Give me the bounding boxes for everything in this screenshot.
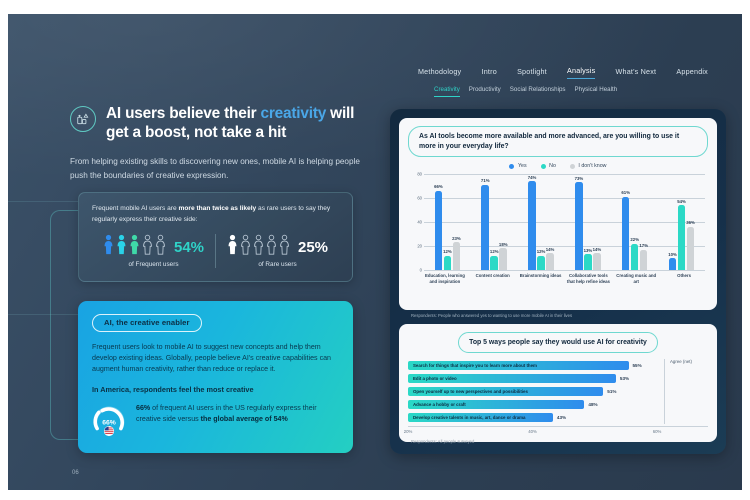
legend-item-idk: I don't know	[570, 163, 607, 169]
chart1-plot-area: 806040200 66%12%23%71%12%18%74%12%14%73%…	[411, 174, 705, 270]
chart2-x-tick: 20%	[404, 429, 413, 434]
teal-stat-a: 66%	[136, 404, 150, 412]
person-icon	[103, 234, 114, 255]
chart2-bar-label: Advance a hobby or craft	[413, 402, 466, 407]
chart2-bar: Search for things that inspire you to le…	[408, 361, 629, 371]
chart1-bar-value: 12%	[443, 249, 452, 254]
left-content-column: AI users believe their creativity will g…	[70, 104, 370, 182]
chart1-bar-value: 61%	[621, 190, 630, 195]
chart1-bar-value: 14%	[593, 247, 602, 252]
person-icon-empty	[266, 234, 277, 255]
teal-card-subhead: In America, respondents feel the most cr…	[92, 385, 339, 394]
chart1-bar-no: 54%	[678, 205, 686, 270]
teal-stat-c: the global average of 54%	[201, 415, 288, 423]
decor-outline	[50, 210, 80, 440]
chart1-bar-yes: 66%	[435, 191, 443, 270]
chart1-bar-value: 13%	[584, 248, 593, 253]
chart1-x-labels: Education, learning and inspirationConte…	[421, 273, 708, 285]
teal-card-body: Frequent users look to mobile AI to sugg…	[92, 342, 339, 376]
page-title: AI users believe their creativity will g…	[106, 104, 370, 142]
chart1-bar-value: 22%	[630, 237, 639, 242]
legend-label-yes: Yes	[518, 163, 527, 169]
chart2-bar-value: 53%	[620, 376, 629, 381]
chart1-bar-value: 12%	[490, 249, 499, 254]
chart1-bar-value: 18%	[499, 242, 508, 247]
title-highlight: creativity	[261, 105, 327, 122]
person-icon	[129, 234, 140, 255]
chart1-bar-no: 12%	[537, 256, 545, 270]
chart2-title: Top 5 ways people say they would use AI …	[458, 332, 658, 353]
subnav-item-social-relationships[interactable]: Social Relationships	[510, 86, 566, 97]
charts-panel: As AI tools become more available and mo…	[390, 109, 726, 454]
chart1-bar-yes: 73%	[575, 182, 583, 270]
chart1-plot: 66%12%23%71%12%18%74%12%14%73%13%14%61%2…	[424, 174, 705, 270]
chart2-bar-value: 43%	[557, 415, 566, 420]
chart2-bar-label: Search for things that inspire you to le…	[413, 363, 537, 368]
chart2-bar-label: Open yourself up to new perspectives and…	[413, 389, 528, 394]
chart1-title-wrap: As AI tools become more available and mo…	[408, 126, 708, 157]
creative-enabler-card: AI, the creative enabler Frequent users …	[78, 301, 353, 453]
teal-card-stat: 66% 66% of fre	[92, 403, 339, 442]
nav-item-whats-next[interactable]: What's Next	[616, 67, 657, 79]
gauge-66: 66%	[92, 403, 126, 442]
stat-card: Frequent mobile AI users are more than t…	[78, 192, 353, 282]
agree-net-label: Agree (net)	[670, 359, 692, 364]
chart1-x-label: Creating music and art	[612, 273, 660, 285]
chart2-row: Search for things that inspire you to le…	[408, 359, 660, 372]
legend-swatch-no	[541, 164, 546, 169]
legend-label-idk: I don't know	[578, 163, 606, 169]
chart1-group: 66%12%23%	[424, 174, 471, 270]
chart1-y-tick: 40	[417, 220, 422, 225]
sub-navigation: Creativity Productivity Social Relations…	[418, 86, 708, 97]
chart1-bar-value: 73%	[575, 176, 584, 181]
chart1-bar-yes: 61%	[622, 197, 630, 270]
person-icon-empty	[253, 234, 264, 255]
person-icon-empty	[240, 234, 251, 255]
chart2-x-axis: 20%40%60%	[408, 426, 708, 435]
chart2-footnote: Respondents: All people surveyed	[408, 439, 708, 444]
chart1-bar-i-don-t-know: 17%	[640, 250, 648, 270]
top-navigation: Methodology Intro Spotlight Analysis Wha…	[418, 66, 708, 97]
chart1-bar-value: 54%	[677, 199, 686, 204]
chart1-bar-no: 22%	[631, 244, 639, 270]
chart1-bar-groups: 66%12%23%71%12%18%74%12%14%73%13%14%61%2…	[424, 174, 705, 270]
chart1-bar-yes: 71%	[481, 185, 489, 270]
chart1-y-tick: 20	[417, 244, 422, 249]
decor-guide-line	[8, 201, 78, 202]
chart1-y-tick: 0	[420, 268, 422, 273]
chart1-bar-i-don-t-know: 36%	[687, 227, 695, 270]
nav-item-appendix[interactable]: Appendix	[676, 67, 708, 79]
chart2-x-tick: 60%	[653, 429, 662, 434]
teal-card-stat-text: 66% of frequent AI users in the US regul…	[136, 403, 339, 426]
chart1-group: 73%13%14%	[564, 174, 611, 270]
chart1-group: 10%54%36%	[658, 174, 705, 270]
title-part-1: AI users believe their	[106, 105, 261, 122]
chart1-bar-i-don-t-know: 23%	[453, 242, 461, 270]
chart1-legend: Yes No I don't know	[408, 163, 708, 169]
chart1-bar-value: 36%	[686, 220, 695, 225]
chart1-bar-value: 14%	[546, 247, 555, 252]
frequent-percentage: 54%	[174, 240, 204, 255]
teal-card-pill: AI, the creative enabler	[92, 314, 202, 332]
chart1-bar-yes: 74%	[528, 181, 536, 270]
rare-percentage: 25%	[298, 240, 328, 255]
chart1-bar-i-don-t-know: 14%	[546, 253, 554, 270]
nav-row: Methodology Intro Spotlight Analysis Wha…	[418, 66, 708, 79]
legend-item-yes: Yes	[509, 163, 526, 169]
nav-item-intro[interactable]: Intro	[482, 67, 497, 79]
chart1-x-label: Content creation	[469, 273, 517, 285]
chart1-bar-value: 74%	[528, 175, 537, 180]
chart1-x-label: Collaborative tools that help refine ide…	[564, 273, 612, 285]
headline-row: AI users believe their creativity will g…	[70, 104, 370, 142]
chart2-side-label: Agree (net)	[664, 359, 708, 424]
slide-canvas: Methodology Intro Spotlight Analysis Wha…	[8, 14, 742, 490]
chart2-bar-label: Develop creative talents in music, art, …	[413, 415, 526, 420]
lede-paragraph: From helping existing skills to discover…	[70, 155, 360, 182]
page-number: 06	[72, 470, 79, 476]
chart2-row: Edit a photo or video53%	[408, 372, 660, 385]
stat-lead-a: Frequent mobile AI users are	[92, 205, 179, 212]
chart1-group: 71%12%18%	[471, 174, 518, 270]
nav-item-spotlight[interactable]: Spotlight	[517, 67, 547, 79]
chart2-rows: Search for things that inspire you to le…	[408, 359, 664, 424]
stat-rare-users: 25% of Rare users	[215, 234, 339, 268]
chart1-bar-yes: 10%	[669, 258, 677, 270]
legend-label-no: No	[549, 163, 556, 169]
subnav-item-physical-health[interactable]: Physical Health	[575, 86, 618, 97]
horizontal-bar-chart-card: Top 5 ways people say they would use AI …	[399, 324, 717, 442]
chart2-bar: Develop creative talents in music, art, …	[408, 413, 553, 423]
chart1-group: 61%22%17%	[611, 174, 658, 270]
creativity-icon	[70, 106, 96, 132]
gauge-value: 66%	[102, 419, 116, 426]
person-icon-empty	[155, 234, 166, 255]
chart1-bar-value: 71%	[481, 178, 490, 183]
chart1-group: 74%12%14%	[518, 174, 565, 270]
chart1-bar-no: 12%	[490, 256, 498, 270]
stat-frequent-users: 54% of Frequent users	[92, 234, 215, 268]
chart1-y-tick: 60	[417, 196, 422, 201]
legend-item-no: No	[541, 163, 556, 169]
chart2-bar: Edit a photo or video	[408, 374, 616, 384]
chart1-title: As AI tools become more available and mo…	[408, 126, 708, 157]
vertical-bar-chart-card: As AI tools become more available and mo…	[399, 118, 717, 310]
frequent-pictogram: 54%	[103, 234, 204, 255]
chart2-bar-label: Edit a photo or video	[413, 376, 457, 381]
chart1-bar-value: 10%	[668, 252, 677, 257]
person-icon	[227, 234, 238, 255]
chart1-bar-value: 23%	[452, 236, 461, 241]
stat-lead-emphasis: more than twice as likely	[179, 205, 257, 212]
person-icon	[116, 234, 127, 255]
chart2-body: Search for things that inspire you to le…	[408, 359, 708, 424]
chart2-bar-value: 51%	[607, 389, 616, 394]
us-flag-icon	[104, 426, 114, 436]
chart1-bar-i-don-t-know: 14%	[593, 253, 601, 270]
nav-item-analysis[interactable]: Analysis	[567, 66, 595, 79]
stat-card-lead: Frequent mobile AI users are more than t…	[92, 204, 339, 225]
subnav-item-productivity[interactable]: Productivity	[469, 86, 501, 97]
chart1-bar-value: 12%	[537, 249, 546, 254]
chart1-x-label: Others	[660, 273, 708, 285]
rare-pictogram: 25%	[227, 234, 328, 255]
chart1-x-label: Education, learning and inspiration	[421, 273, 469, 285]
chart2-x-tick: 40%	[528, 429, 537, 434]
chart1-bar-i-don-t-know: 18%	[499, 248, 507, 270]
chart1-bar-value: 17%	[639, 243, 648, 248]
chart1-bar-no: 12%	[444, 256, 452, 270]
chart2-bar: Open yourself up to new perspectives and…	[408, 387, 603, 397]
chart2-row: Advance a hobby or craft48%	[408, 398, 660, 411]
chart1-bar-no: 13%	[584, 254, 592, 270]
chart2-row: Open yourself up to new perspectives and…	[408, 385, 660, 398]
rare-caption: of Rare users	[258, 261, 296, 268]
chart2-row: Develop creative talents in music, art, …	[408, 411, 660, 424]
legend-swatch-yes	[509, 164, 514, 169]
chart2-bar-value: 55%	[633, 363, 642, 368]
chart2-title-wrap: Top 5 ways people say they would use AI …	[408, 332, 708, 353]
chart1-y-axis: 806040200	[411, 174, 423, 270]
frequent-caption: of Frequent users	[128, 261, 178, 268]
chart1-y-tick: 80	[417, 172, 422, 177]
stat-grid: 54% of Frequent users 25% of Rare users	[92, 234, 339, 268]
chart1-gridline	[424, 270, 705, 271]
subnav-item-creativity[interactable]: Creativity	[434, 86, 460, 97]
nav-item-methodology[interactable]: Methodology	[418, 67, 461, 79]
chart1-x-label: Brainstorming ideas	[517, 273, 565, 285]
chart1-footnote: Respondents: People who answered yes to …	[411, 313, 717, 318]
chart2-bar: Advance a hobby or craft	[408, 400, 584, 410]
chart2-bar-value: 48%	[588, 402, 597, 407]
legend-swatch-idk	[570, 164, 575, 169]
chart1-bar-value: 66%	[434, 184, 443, 189]
person-icon-empty	[279, 234, 290, 255]
person-icon-empty	[142, 234, 153, 255]
